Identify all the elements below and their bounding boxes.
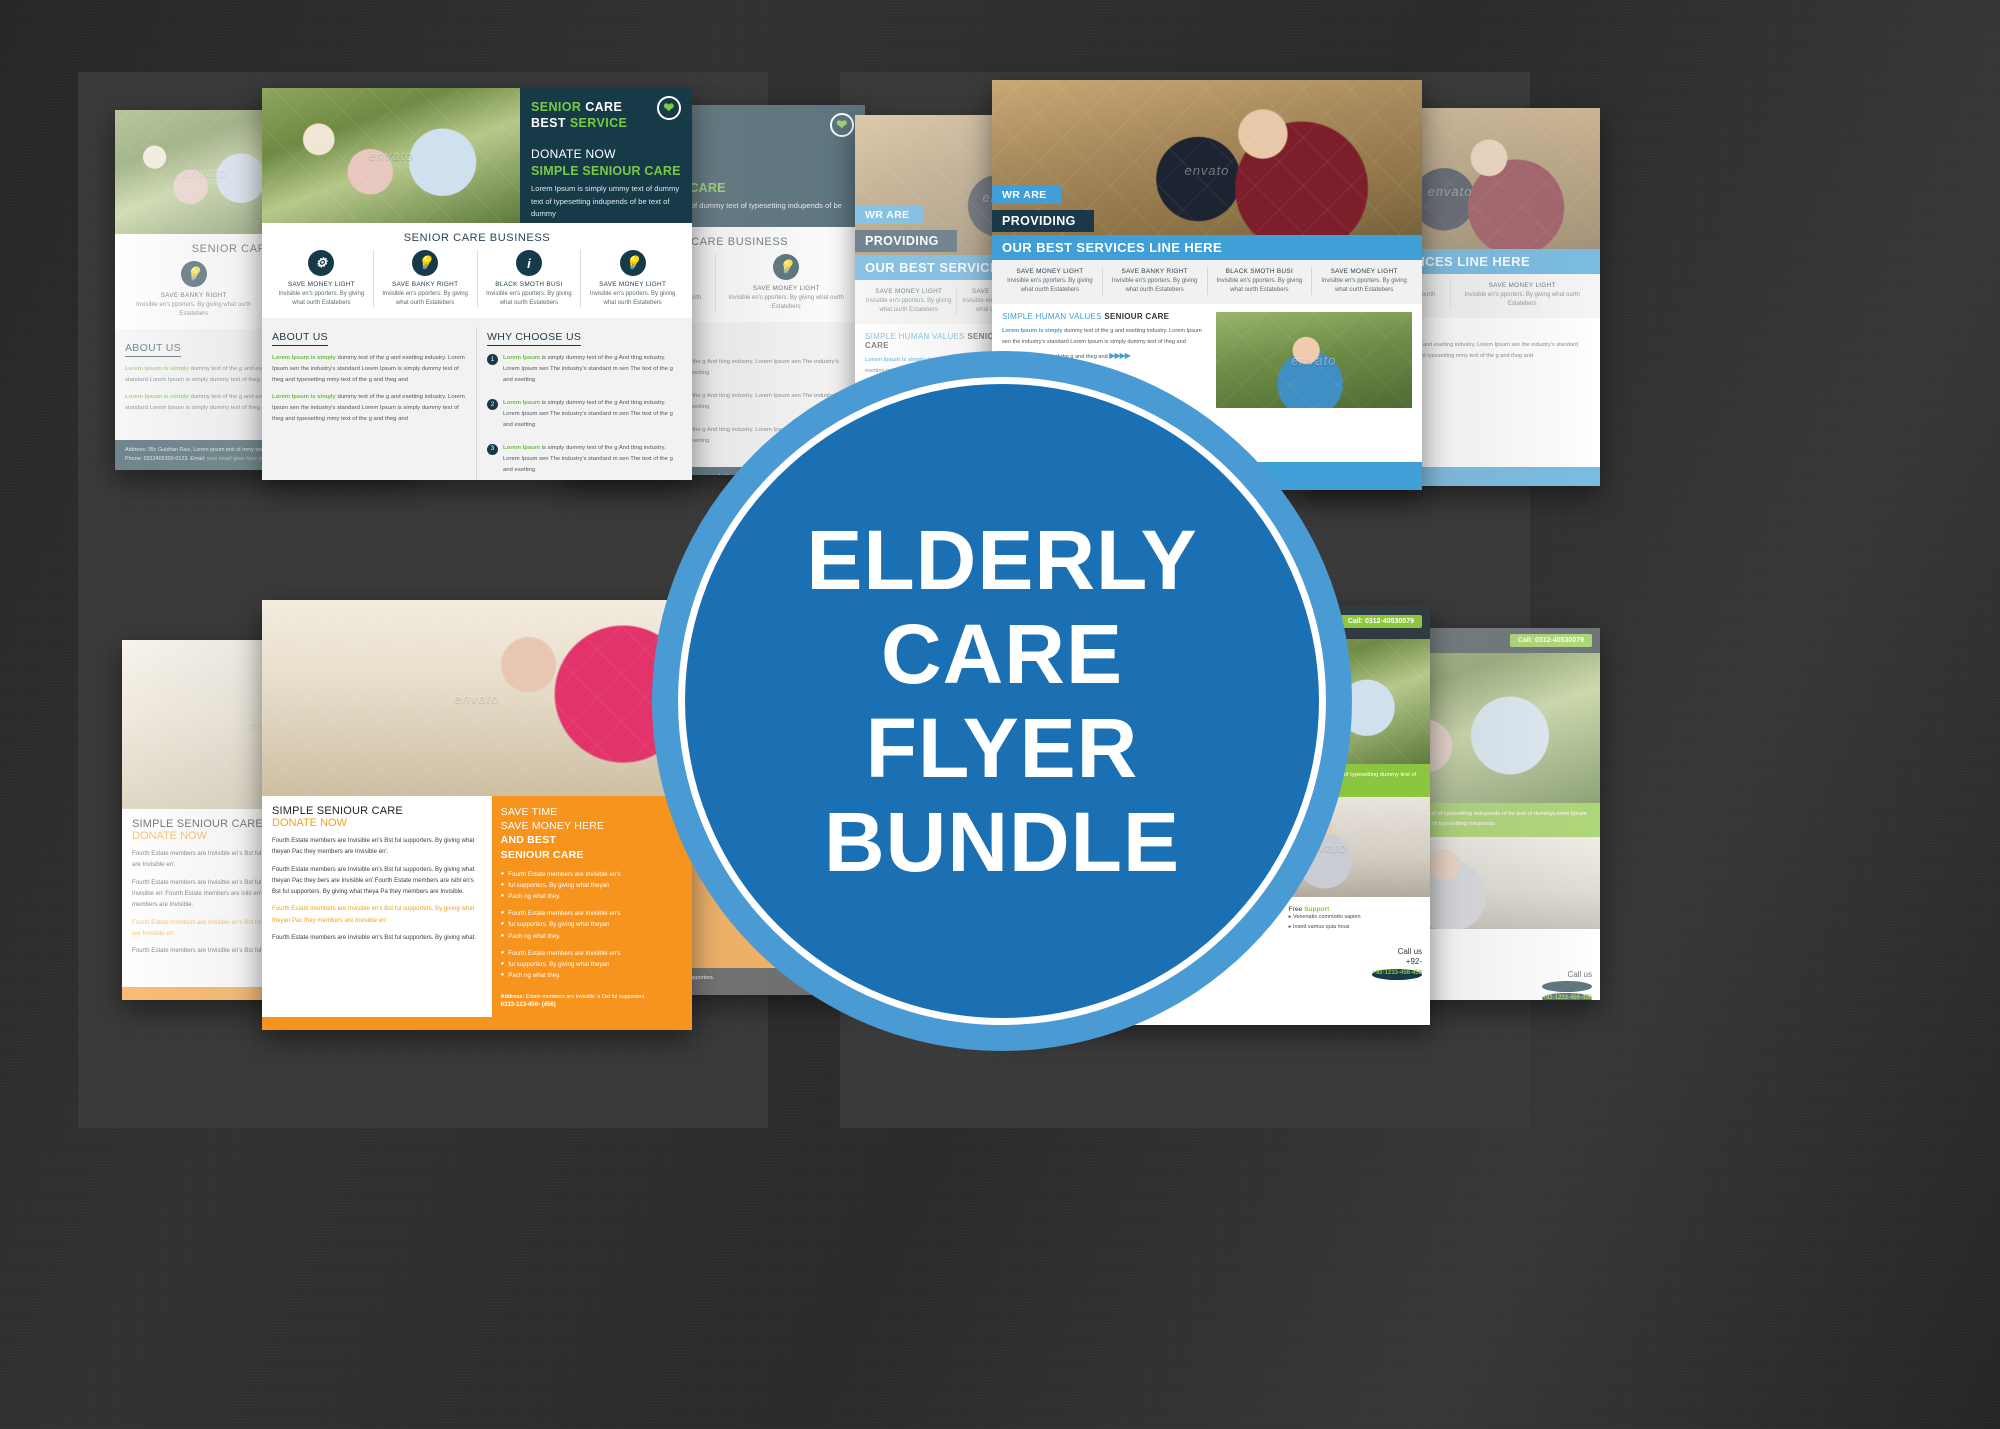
orange-head-1: SAVE TIME: [501, 806, 558, 818]
center-badge: ELDERLY CARE FLYER BUNDLE: [652, 351, 1352, 1051]
bullet-icon: ●: [501, 931, 505, 942]
feature-title: SAVE MONEY LIGHT: [274, 281, 369, 288]
info-icon: i: [516, 250, 542, 276]
about-lead: Lorem Ipsum is simply: [272, 394, 336, 400]
feature-title: SAVE MONEY LIGHT: [1455, 282, 1591, 289]
feature-text: Invisible en's pporters. By giving what …: [274, 290, 369, 308]
feature-title: SAVE MONEY LIGHT: [720, 285, 854, 292]
feature-title: BLACK SMOTH BUSI: [1212, 268, 1308, 275]
why-lead: Lorem Ipsum: [503, 445, 540, 451]
address-label: Address:: [501, 994, 524, 1000]
watermark: envato: [1216, 312, 1412, 408]
teal-title-service: SERVICE: [570, 116, 627, 130]
bulb-icon: 💡: [620, 250, 646, 276]
feature-text: Invisible en's pporters. By giving what …: [1107, 277, 1203, 295]
orange-head-4: SENIOUR CARE: [501, 849, 584, 861]
list-number: 2: [487, 399, 498, 410]
teal-simple: SIMPLE SENIOUR CARE: [531, 164, 681, 178]
heart-icon: ❤: [657, 96, 681, 120]
about-lead: Lorem Ipsum is simply: [272, 355, 336, 361]
blue-lead: Lorem Ipsum is simply: [1002, 328, 1063, 334]
feature-title: SAVE BANKY RIGHT: [127, 292, 261, 299]
orange-bullet: ful supporters. By giving what theyan: [508, 959, 609, 970]
orange-bullet: ful supporters. By giving what theyan: [508, 919, 609, 930]
call-us-label: Call us: [1568, 970, 1592, 979]
blue-section-heading: SIMPLE HUMAN VALUES: [1002, 312, 1102, 321]
feature-title: SAVE BANKY RIGHT: [1107, 268, 1203, 275]
orange-paragraph-highlight: Fourth Estate members are Invisible en's…: [272, 903, 482, 926]
about-lead: Lorem Ipsum is simply: [125, 366, 189, 372]
call-us-number[interactable]: +92-1233-456-456: [1372, 969, 1422, 980]
feature-text: Invisible en's pporters. By giving what …: [1002, 277, 1098, 295]
call-us-label: Call us: [1398, 947, 1422, 956]
badge-line-3: FLYER: [866, 701, 1139, 795]
feature-title: SAVE MONEY LIGHT: [1002, 268, 1098, 275]
bullet-icon: ●: [501, 948, 505, 959]
support-item: Venenatis commodo sapien: [1293, 914, 1361, 920]
blue-section-sub: SENIOUR CARE: [1104, 312, 1169, 321]
ribbon-providing: PROVIDING: [855, 230, 957, 252]
badge-line-4: BUNDLE: [824, 795, 1180, 889]
orange-head-2: SAVE MONEY HERE: [501, 820, 605, 832]
feature-title: SAVE MONEY LIGHT: [1316, 268, 1412, 275]
free-label: Free: [1289, 906, 1303, 913]
footer-phone: Phone: 0312405300-0123. Email:: [125, 456, 207, 462]
orange-paragraph: Fourth Estate members are Invisible en's…: [272, 932, 482, 943]
orange-paragraph: Fourth Estate members are Invisible en's…: [272, 864, 482, 898]
orange-footer-bar: [262, 1017, 692, 1030]
gear-icon: ⚙: [308, 250, 334, 276]
watermark: envato: [262, 600, 692, 796]
blue-section-heading: SIMPLE HUMAN VALUES: [865, 332, 965, 341]
bullet-icon: ●: [501, 919, 505, 930]
about-heading: ABOUT US: [272, 331, 328, 346]
arrows-icon: ▶▶▶▶: [1109, 351, 1130, 360]
badge-line-1: ELDERLY: [806, 513, 1197, 607]
ribbon-services: OUR BEST SERVICES LINE HERE: [992, 235, 1422, 260]
feature-text: Invisible en's pporters. By giving what …: [127, 301, 261, 319]
orange-bullet: Pach ng what they.: [508, 891, 560, 902]
feature-text: Invisible en's pporters. By giving what …: [1212, 277, 1308, 295]
bullet-icon: ●: [501, 970, 505, 981]
support-item: Insed vamus quia rious: [1293, 924, 1350, 930]
ribbon-providing: PROVIDING: [992, 210, 1094, 232]
orange-subtitle: DONATE NOW: [272, 817, 482, 829]
list-number: 3: [487, 444, 498, 455]
feature-text: Invisible en's pporters. By giving what …: [720, 294, 854, 312]
bullet-icon: ●: [501, 869, 505, 880]
bulb-icon: 💡: [773, 254, 799, 280]
ribbon-we-are: WR ARE: [855, 206, 924, 224]
call-pill[interactable]: Call: 0312-40530079: [1510, 634, 1592, 647]
orange-bullet: ful supporters. By giving what theyan: [508, 880, 609, 891]
teal-intro: Lorem Ipsum is simply ummy text of dummy…: [531, 183, 681, 221]
ribbon-we-are: WR ARE: [992, 186, 1061, 204]
orange-head-3: AND BEST: [501, 834, 556, 846]
bullet-icon: ●: [501, 880, 505, 891]
feature-title: SAVE BANKY RIGHT: [378, 281, 473, 288]
watermark: envato: [992, 80, 1422, 260]
feature-text: Invisible en's pporters. By giving what …: [378, 290, 473, 308]
orange-title: SIMPLE SENIOUR CARE: [272, 805, 482, 817]
orange-bullet: Fourth Estate members are Invisible en's: [508, 948, 620, 959]
flyer-orange-front[interactable]: envato SIMPLE SENIOUR CARE DONATE NOW Fo…: [262, 600, 692, 1030]
orange-bullet: Fourth Estate members are Invisible en's: [508, 869, 620, 880]
call-pill[interactable]: Call: 0312-40530079: [1340, 615, 1422, 628]
teal-title-senior: SENIOR: [531, 100, 581, 114]
feature-text: Invisible en's pporters. By giving what …: [585, 290, 680, 308]
orange-bullet: Pach ng what they.: [508, 970, 560, 981]
call-us-number[interactable]: +92-1233-456-456: [1542, 993, 1592, 1000]
watermark: envato: [262, 88, 520, 223]
flyer-teal-front[interactable]: envato ❤ SENIOR CARE BEST SERVICE DONATE…: [262, 88, 692, 480]
feature-title: BLACK SMOTH BUSI: [482, 281, 577, 288]
support-label: Support: [1304, 906, 1329, 913]
why-heading: WHY CHOOSE US: [487, 331, 581, 346]
phone-number[interactable]: 0333-123-456- (456): [501, 1002, 683, 1008]
feature-title: SAVE MONEY LIGHT: [585, 281, 680, 288]
poster-canvas: envato SENIOR CARE DONATE NOW SENIOR CAR…: [0, 0, 2000, 1429]
badge-line-2: CARE: [881, 607, 1123, 701]
teal-donate: DONATE NOW: [531, 147, 681, 161]
bullet-icon: ●: [501, 908, 505, 919]
about-heading: ABOUT US: [125, 342, 181, 357]
bullet-icon: ●: [501, 959, 505, 970]
badge-inner-circle: ELDERLY CARE FLYER BUNDLE: [678, 377, 1326, 1025]
about-lead: Lorem Ipsum is simply: [125, 394, 189, 400]
teal-title-best: BEST: [531, 116, 566, 130]
bulb-icon: 💡: [412, 250, 438, 276]
bullet-icon: ●: [501, 891, 505, 902]
list-number: 1: [487, 354, 498, 365]
feature-title: SAVE MONEY LIGHT: [865, 288, 952, 295]
orange-bullet: Fourth Estate members are Invisible en's: [508, 908, 620, 919]
teal-business-title: SENIOR CARE BUSINESS: [262, 223, 692, 250]
orange-bullet: Pach ng what they.: [508, 931, 560, 942]
why-lead: Lorem Ipsum: [503, 355, 540, 361]
orange-paragraph: Fourth Estate members are Invisible en's…: [272, 835, 482, 858]
teal-title-care: CARE: [585, 100, 622, 114]
address-value: Estate members are Invisible 's Ost ful …: [524, 994, 646, 1000]
bulb-icon: 💡: [181, 261, 207, 287]
feature-text: Invisible en's pporters. By giving what …: [482, 290, 577, 308]
feature-text: Invisible en's pporters. By giving what …: [1316, 277, 1412, 295]
feature-text: Invisible en's pporters. By giving what …: [1455, 291, 1591, 309]
heart-icon: ❤: [830, 113, 854, 137]
feature-text: Invisible en's pporters. By giving what …: [865, 297, 952, 315]
why-lead: Lorem Ipsum: [503, 400, 540, 406]
